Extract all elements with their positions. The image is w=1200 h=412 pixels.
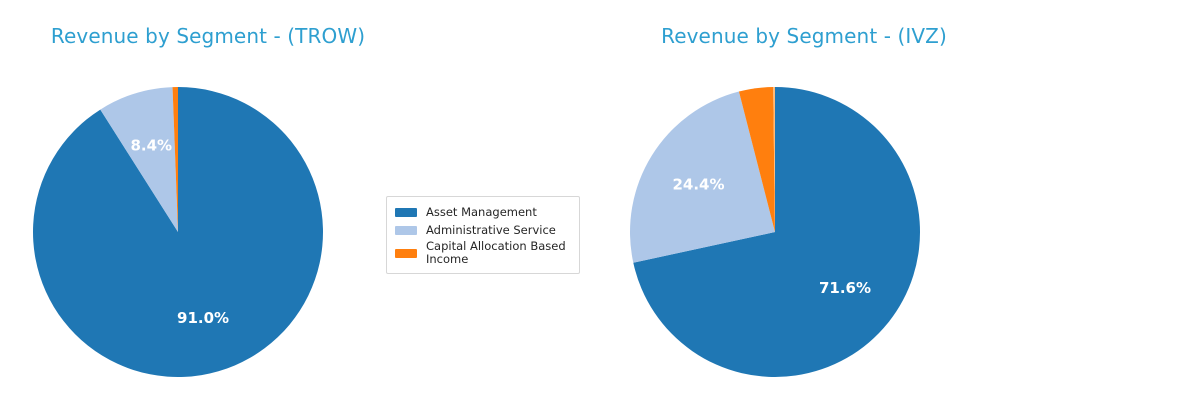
- legend-item[interactable]: Asset Management: [395, 204, 570, 221]
- legend-item-label: Asset Management: [426, 206, 537, 219]
- pie-slices-ivz: [630, 87, 920, 377]
- pie-slice-percent-label: 71.6%: [819, 279, 871, 297]
- pie-svg-ivz: 71.6%24.4%: [629, 86, 921, 378]
- legend-swatch-icon: [395, 208, 417, 217]
- pie-chart-trow: 91.0%8.4%: [32, 86, 324, 378]
- pie-slice-percent-label: 24.4%: [672, 175, 724, 193]
- pie-slices-trow: [33, 87, 323, 377]
- pie-chart-ivz: 71.6%24.4%: [629, 86, 921, 378]
- legend-swatch-icon: [395, 249, 417, 258]
- pie-slice[interactable]: [33, 87, 323, 377]
- legend-item-label: Administrative Service: [426, 224, 556, 237]
- legend-swatch-icon: [395, 226, 417, 235]
- pie-slice-percent-label: 91.0%: [177, 309, 229, 327]
- legend-item[interactable]: Capital Allocation Based Income: [395, 240, 570, 266]
- chart-title-trow: Revenue by Segment - (TROW): [0, 24, 508, 48]
- legend-trow: Asset Management Administrative Service …: [386, 196, 580, 274]
- pie-svg-trow: 91.0%8.4%: [32, 86, 324, 378]
- chart-title-ivz: Revenue by Segment - (IVZ): [504, 24, 1104, 48]
- legend-item[interactable]: Administrative Service: [395, 222, 570, 239]
- legend-item-label: Capital Allocation Based Income: [426, 240, 566, 266]
- chart-panel-ivz: Revenue by Segment - (IVZ) 71.6%24.4% In…: [600, 0, 1200, 412]
- figure-canvas: Revenue by Segment - (TROW) 91.0%8.4% As…: [0, 0, 1200, 412]
- pie-slice-percent-label: 8.4%: [130, 137, 172, 155]
- chart-panel-trow: Revenue by Segment - (TROW) 91.0%8.4% As…: [0, 0, 600, 412]
